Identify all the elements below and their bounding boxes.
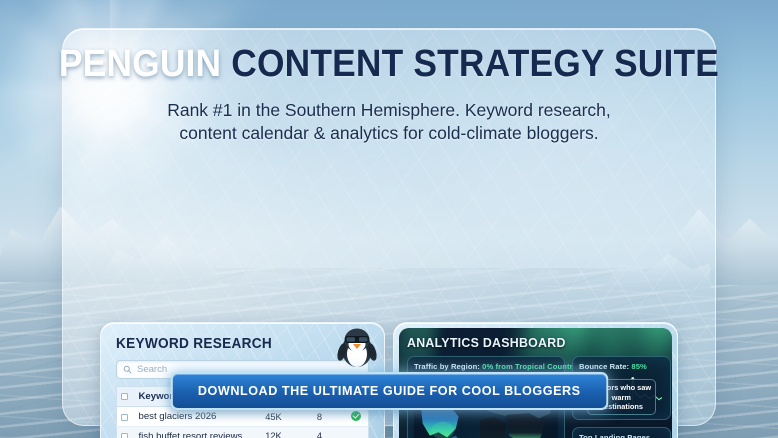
cards-row: KEYWORD RESEARCH Search — [0, 160, 778, 360]
cell-difficulty: 4 — [295, 427, 345, 438]
hero-subtitle: Rank #1 in the Southern Hemisphere. Keyw… — [0, 99, 778, 145]
title-rest: CONTENT STRATEGY SUITE — [231, 43, 719, 85]
cell-status — [345, 427, 369, 438]
cell-volume: 12K — [253, 427, 295, 438]
cell-keyword: fish buffet resort reviews — [133, 427, 253, 438]
analytics-card-heading: ANALYTICS DASHBOARD — [407, 335, 651, 350]
top-landing-pages-panel: Top Landing Pages 1. /emperor-penguin-pa… — [572, 427, 671, 438]
subtitle-line-1: Rank #1 in the Southern Hemisphere. Keyw… — [0, 99, 778, 122]
table-row[interactable]: fish buffet resort reviews12K4 — [117, 427, 369, 438]
traffic-panel-title: Traffic by Region: 0% from Tropical Coun… — [414, 362, 558, 371]
row-checkbox[interactable] — [121, 433, 128, 438]
subtitle-line-2: content calendar & analytics for cold-cl… — [0, 122, 778, 145]
keyword-table-body: best glaciers 202645K8fish buffet resort… — [117, 407, 369, 438]
row-checkbox[interactable] — [121, 414, 128, 421]
page-title: PENGUIN CONTENT STRATEGY SUITE — [27, 45, 751, 83]
landing-panel-title: Top Landing Pages — [579, 433, 664, 438]
title-word-penguin: PENGUIN — [59, 43, 221, 85]
status-check-icon — [351, 411, 361, 421]
penguin-sunglasses-icon — [333, 324, 381, 368]
bounce-panel-title: Bounce Rate: 85% — [579, 362, 664, 371]
traffic-title-label: Traffic by Region: — [414, 362, 480, 371]
traffic-title-value: 0% from Tropical Countries — [482, 362, 583, 371]
keyword-card-heading: KEYWORD RESEARCH — [116, 336, 354, 352]
download-guide-button[interactable]: DOWNLOAD THE ULTIMATE GUIDE FOR COOL BLO… — [170, 372, 607, 410]
bounce-title-value: 85% — [631, 362, 647, 371]
bounce-title-label: Bounce Rate: — [579, 362, 629, 371]
cta-section: DOWNLOAD THE ULTIMATE GUIDE FOR COOL BLO… — [0, 372, 778, 410]
hero-section: PENGUIN CONTENT STRATEGY SUITE Rank #1 i… — [0, 0, 778, 145]
row-checkbox-cell[interactable] — [117, 427, 133, 438]
